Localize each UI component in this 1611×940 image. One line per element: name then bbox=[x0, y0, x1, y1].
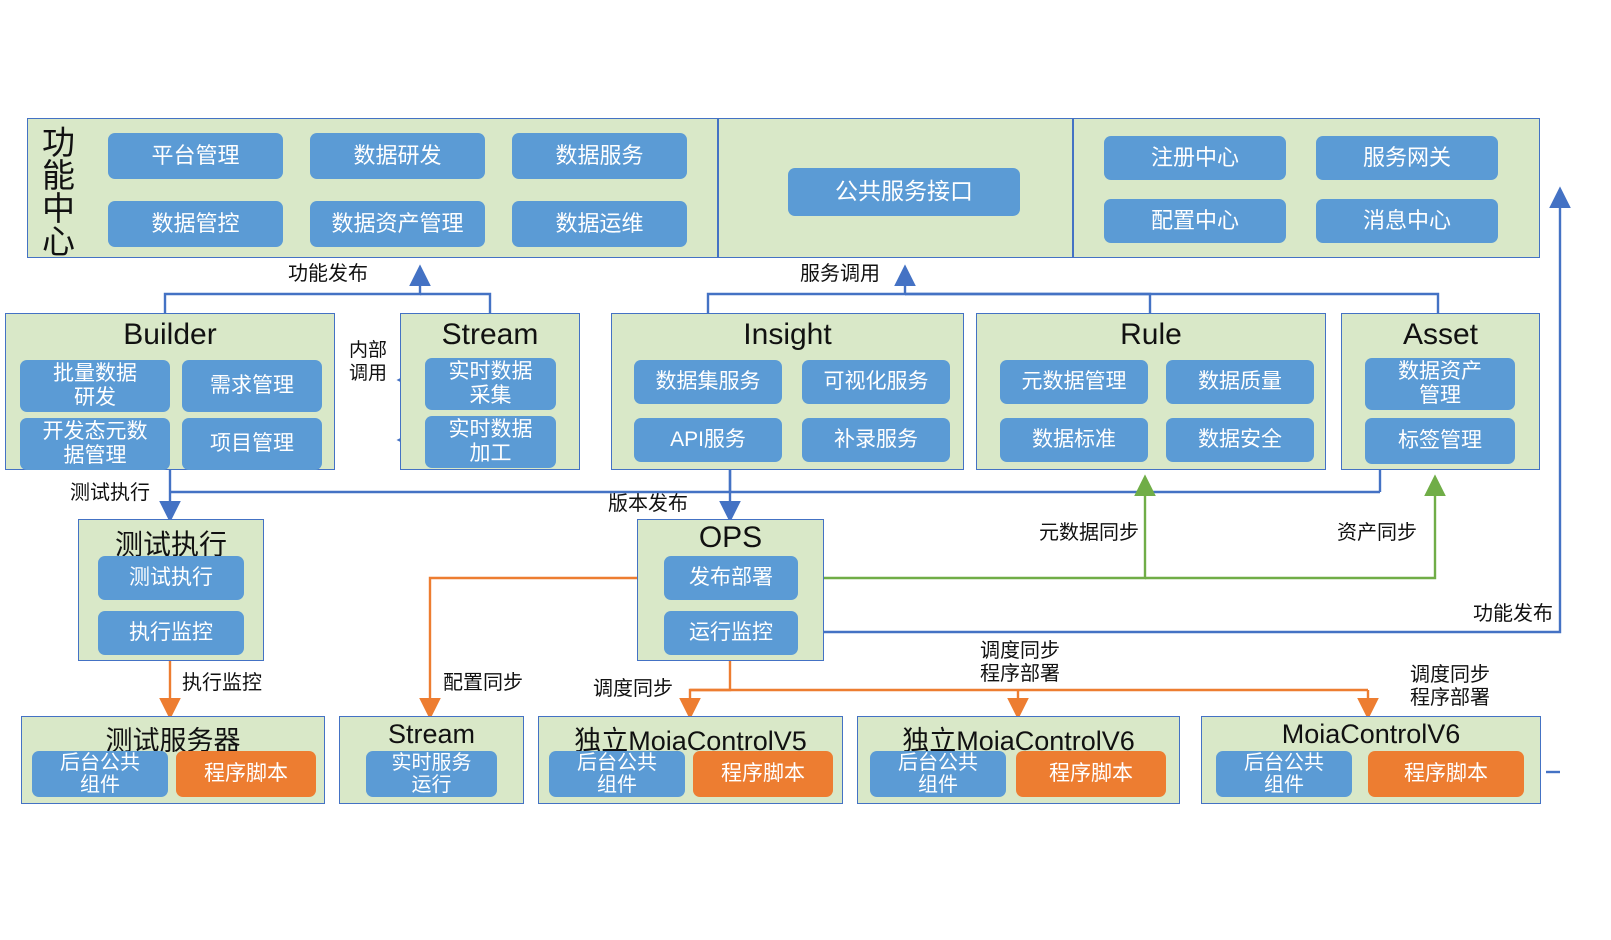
label-execute-monitor: 执行监控 bbox=[182, 671, 262, 695]
label-service-call: 服务调用 bbox=[800, 262, 880, 286]
panel-stream-title: Stream bbox=[400, 318, 580, 352]
chip-data-security[interactable]: 数据安全 bbox=[1166, 418, 1314, 462]
chip-visualization-service[interactable]: 可视化服务 bbox=[802, 360, 950, 404]
panel-insight-title: Insight bbox=[611, 318, 964, 352]
label-metadata-sync: 元数据同步 bbox=[1039, 521, 1139, 545]
chip-metadata-management[interactable]: 元数据管理 bbox=[1000, 360, 1148, 404]
chip-data-operations[interactable]: 数据运维 bbox=[512, 201, 687, 247]
label-version-release: 版本发布 bbox=[608, 492, 688, 516]
chip-service-gateway[interactable]: 服务网关 bbox=[1316, 136, 1498, 180]
chip-project-management[interactable]: 项目管理 bbox=[182, 418, 322, 470]
chip-config-center[interactable]: 配置中心 bbox=[1104, 199, 1286, 243]
label-asset-sync: 资产同步 bbox=[1337, 521, 1417, 545]
chip-realtime-data-collection[interactable]: 实时数据 采集 bbox=[425, 358, 556, 410]
panel-rule-title: Rule bbox=[976, 318, 1326, 352]
chip-message-center[interactable]: 消息中心 bbox=[1316, 199, 1498, 243]
chip-public-service-interface[interactable]: 公共服务接口 bbox=[788, 168, 1020, 216]
chip-data-service[interactable]: 数据服务 bbox=[512, 133, 687, 179]
chip-supplement-service[interactable]: 补录服务 bbox=[802, 418, 950, 462]
panel-server-stream-title: Stream bbox=[339, 719, 524, 750]
chip-batch-data-development[interactable]: 批量数据 研发 bbox=[20, 360, 170, 412]
chip-data-quality[interactable]: 数据质量 bbox=[1166, 360, 1314, 404]
function-center-divider-2 bbox=[1072, 118, 1074, 258]
label-schedule-sync-deploy-right: 调度同步 程序部署 bbox=[1370, 664, 1530, 710]
label-config-sync: 配置同步 bbox=[443, 671, 523, 695]
chip-dataset-service[interactable]: 数据集服务 bbox=[634, 360, 782, 404]
chip-requirement-management[interactable]: 需求管理 bbox=[182, 360, 322, 412]
chip-release-deploy[interactable]: 发布部署 bbox=[664, 556, 798, 600]
label-feature-publish-top: 功能发布 bbox=[288, 262, 368, 286]
chip-execution-monitor[interactable]: 执行监控 bbox=[98, 611, 244, 655]
chip-realtime-service-runtime[interactable]: 实时服务 运行 bbox=[366, 751, 497, 797]
panel-ops-title: OPS bbox=[637, 521, 824, 555]
chip-runtime-monitor[interactable]: 运行监控 bbox=[664, 611, 798, 655]
architecture-diagram: 功能中心 平台管理 数据研发 数据服务 数据管控 数据资产管理 数据运维 公共服… bbox=[0, 0, 1611, 940]
chip-backend-common-component-4[interactable]: 后台公共 组件 bbox=[1216, 751, 1352, 797]
panel-asset-title: Asset bbox=[1341, 318, 1540, 352]
label-schedule-sync-deploy-mid: 调度同步 程序部署 bbox=[940, 640, 1100, 686]
chip-registry-center[interactable]: 注册中心 bbox=[1104, 136, 1286, 180]
chip-backend-common-component-2[interactable]: 后台公共 组件 bbox=[549, 751, 685, 797]
chip-program-script-1[interactable]: 程序脚本 bbox=[176, 751, 316, 797]
label-feature-publish-right: 功能发布 bbox=[1473, 602, 1553, 626]
chip-data-standard[interactable]: 数据标准 bbox=[1000, 418, 1148, 462]
chip-tag-management[interactable]: 标签管理 bbox=[1365, 418, 1515, 464]
chip-data-governance[interactable]: 数据管控 bbox=[108, 201, 283, 247]
panel-server-moia-v6-title: MoiaControlV6 bbox=[1201, 719, 1541, 750]
chip-backend-common-component-1[interactable]: 后台公共 组件 bbox=[32, 751, 168, 797]
chip-backend-common-component-3[interactable]: 后台公共 组件 bbox=[870, 751, 1006, 797]
label-test-execute-edge: 测试执行 bbox=[70, 481, 150, 505]
chip-program-script-2[interactable]: 程序脚本 bbox=[693, 751, 833, 797]
label-schedule-sync: 调度同步 bbox=[593, 677, 673, 701]
chip-platform-management[interactable]: 平台管理 bbox=[108, 133, 283, 179]
chip-api-service[interactable]: API服务 bbox=[634, 418, 782, 462]
chip-program-script-3[interactable]: 程序脚本 bbox=[1016, 751, 1166, 797]
panel-builder-title: Builder bbox=[5, 318, 335, 352]
chip-test-execute[interactable]: 测试执行 bbox=[98, 556, 244, 600]
chip-data-development[interactable]: 数据研发 bbox=[310, 133, 485, 179]
chip-program-script-4[interactable]: 程序脚本 bbox=[1368, 751, 1524, 797]
chip-data-asset-mgmt[interactable]: 数据资产 管理 bbox=[1365, 358, 1515, 410]
function-center-divider-1 bbox=[717, 118, 719, 258]
function-center-label: 功能中心 bbox=[36, 126, 82, 258]
label-internal-call: 内部 调用 bbox=[340, 340, 396, 386]
chip-data-asset-management[interactable]: 数据资产管理 bbox=[310, 201, 485, 247]
chip-realtime-data-processing[interactable]: 实时数据 加工 bbox=[425, 416, 556, 468]
chip-dev-metadata-management[interactable]: 开发态元数 据管理 bbox=[20, 418, 170, 470]
